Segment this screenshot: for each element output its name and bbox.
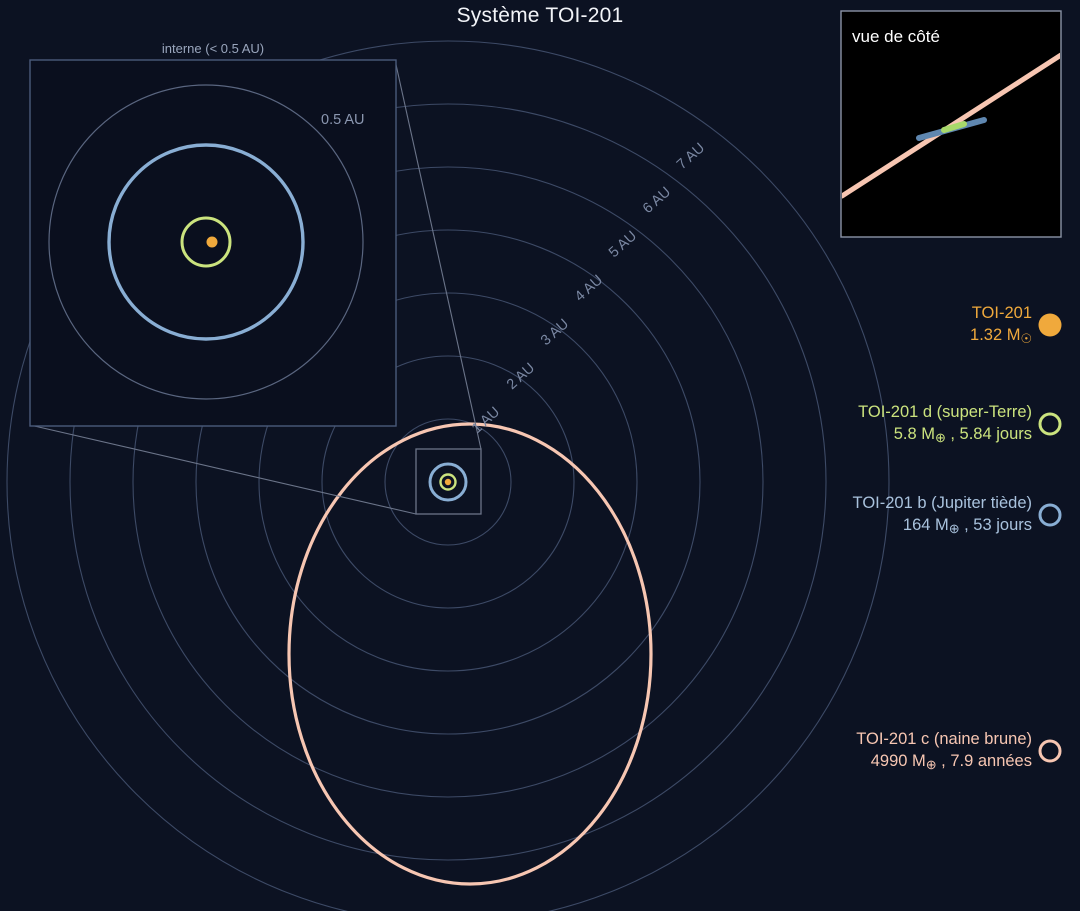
au-ring-label-3: 3 AU [538,316,572,349]
side-inset-caption: vue de côté [852,27,940,47]
star-toi201-main [445,479,451,485]
au-ring-label-2: 2 AU [504,360,538,393]
inset-ring-label-0p5au: 0.5 AU [321,112,365,128]
legend-entry-toi201-b: TOI-201 b (Jupiter tiède) 164 M⊕ , 53 jo… [853,493,1032,538]
legend-marker-toi201-c [1040,741,1060,761]
legend-entry-toi201-d: TOI-201 d (super-Terre) 5.8 M⊕ , 5.84 jo… [858,402,1032,447]
legend-toi201-d-name: TOI-201 d (super-Terre) [858,402,1032,424]
au-ring-label-5: 5 AU [606,228,640,261]
legend-toi201-d-mass: 5.8 M⊕ , 5.84 jours [858,424,1032,447]
legend-toi201-b-mass: 164 M⊕ , 53 jours [853,515,1032,538]
inner-inset-panel: 0.5 AU [30,60,396,426]
au-ring-labels: 1 AU 2 AU 3 AU 4 AU 5 AU 6 AU 7 AU [469,140,708,437]
au-ring-label-6: 6 AU [640,184,674,217]
legend-marker-star [1039,314,1062,337]
inner-inset-caption: interne (< 0.5 AU) [30,41,396,56]
orbit-plot: 1 AU 2 AU 3 AU 4 AU 5 AU 6 AU 7 AU 0.5 A… [0,0,1080,911]
legend-star-name: TOI-201 [970,303,1032,325]
legend-star-mass: 1.32 M☉ [970,325,1032,348]
legend-toi201-c-mass: 4990 M⊕ , 7.9 années [856,751,1032,774]
au-ring-label-7: 7 AU [674,140,708,173]
orbit-toi201-c [289,424,651,884]
legend-toi201-c-name: TOI-201 c (naine brune) [856,729,1032,751]
zoom-leader-line-bottom [30,425,416,514]
zoom-leader-line-top [395,60,481,449]
legend-markers [1039,314,1062,762]
legend-entry-toi201-c: TOI-201 c (naine brune) 4990 M⊕ , 7.9 an… [856,729,1032,774]
legend-marker-toi201-d [1040,414,1060,434]
legend-marker-toi201-b [1040,505,1060,525]
au-ring-label-4: 4 AU [572,272,606,305]
star-toi201-inset [207,237,218,248]
legend-entry-star: TOI-201 1.32 M☉ [970,303,1032,348]
system-diagram-canvas: Système TOI-201 1 AU 2 AU [0,0,1080,911]
legend-toi201-b-name: TOI-201 b (Jupiter tiède) [853,493,1032,515]
